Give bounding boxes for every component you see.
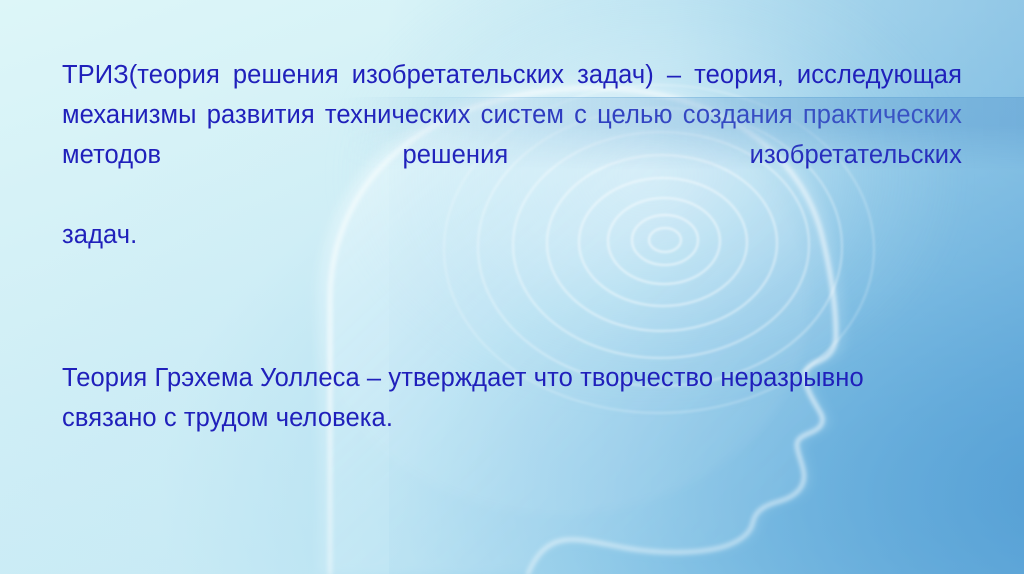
paragraph-wallace-line-1: Теория Грэхема Уоллеса – утверждает что … <box>62 358 978 398</box>
paragraph-triz-tail: задач. <box>62 215 962 255</box>
background-seam-plate <box>0 98 1024 170</box>
text-layer: ТРИЗ(теория решения изобретательских зад… <box>0 0 1024 574</box>
background-seam-line <box>0 97 1024 98</box>
paragraph-wallace-line-2: связано с трудом человека. <box>62 398 978 438</box>
slide-canvas: ТРИЗ(теория решения изобретательских зад… <box>0 0 1024 574</box>
paragraph-wallace: Теория Грэхема Уоллеса – утверждает что … <box>62 358 978 438</box>
